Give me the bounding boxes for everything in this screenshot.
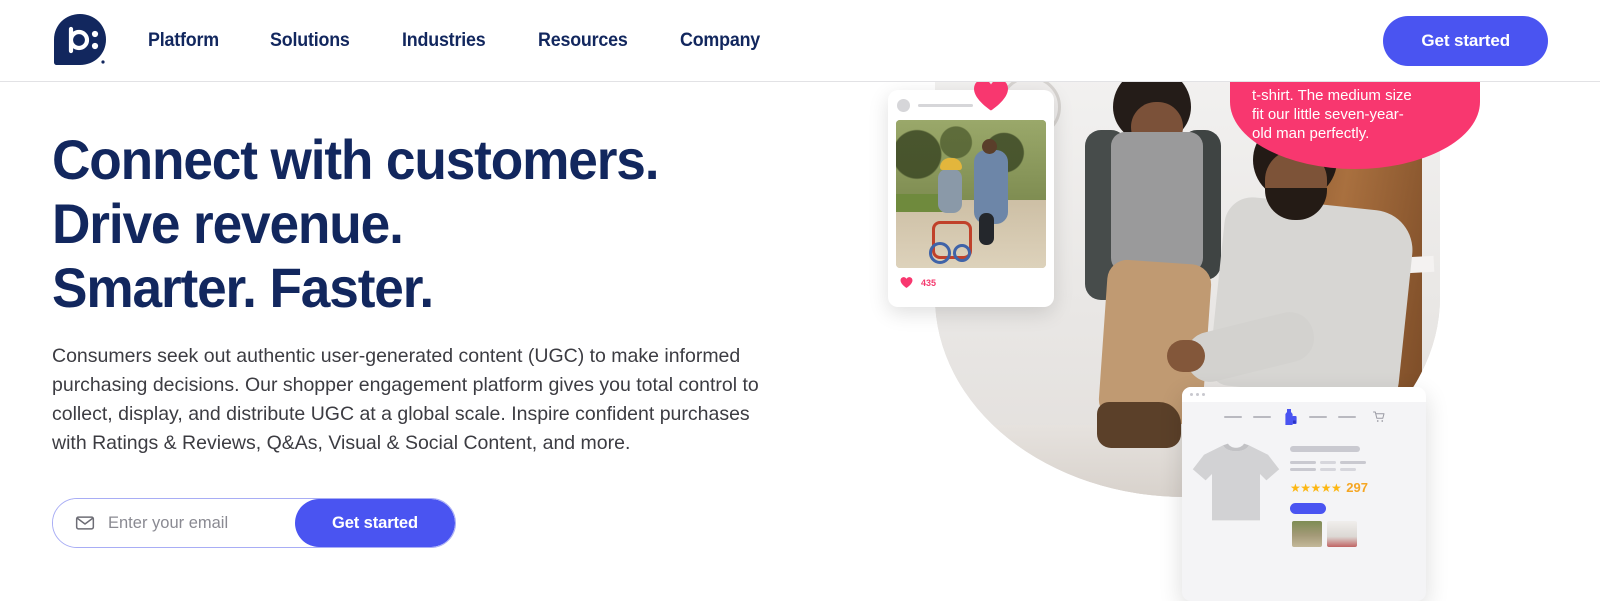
heart-like-icon[interactable]	[900, 276, 913, 289]
photo-boy-shirt	[1111, 132, 1203, 272]
headline-line-3: Smarter. Faster.	[52, 256, 774, 320]
product-detail-body: ★★★★★ 297	[1182, 432, 1426, 547]
photo-child-body	[938, 169, 962, 213]
site-header: Platform Solutions Industries Resources …	[0, 0, 1600, 82]
photo-dad-hand	[1167, 340, 1205, 372]
hero-get-started-button[interactable]: Get started	[295, 499, 455, 547]
review-count-label: 297	[1346, 480, 1368, 495]
ugc-thumbnail-row	[1290, 514, 1416, 547]
email-input[interactable]	[108, 514, 295, 533]
logo-icon	[53, 13, 107, 69]
bottle-logo-icon	[1282, 408, 1298, 426]
window-dot-maximize	[1202, 393, 1205, 396]
nav-placeholder-4[interactable]	[1338, 416, 1356, 419]
product-specs-placeholder	[1290, 461, 1416, 471]
product-rating: ★★★★★ 297	[1290, 480, 1416, 495]
review-text-line-1: t-shirt. The medium size	[1252, 86, 1460, 105]
window-dot-minimize	[1196, 393, 1199, 396]
photo-trees	[896, 120, 1046, 206]
spec-bar	[1320, 468, 1336, 471]
star-rating-icon: ★★★★★	[1290, 481, 1341, 495]
review-text-line-2: fit our little seven-year-	[1252, 105, 1460, 124]
email-field-wrap	[53, 499, 295, 547]
window-dot-close	[1190, 393, 1193, 396]
product-page-card[interactable]: ★★★★★ 297	[1182, 387, 1426, 601]
review-text-line-3: old man perfectly.	[1252, 124, 1460, 143]
nav-item-industries[interactable]: Industries	[402, 30, 485, 52]
post-card-footer: 435	[888, 268, 1054, 289]
nav-item-resources[interactable]: Resources	[538, 30, 628, 52]
page-title: Connect with customers. Drive revenue. S…	[52, 128, 774, 320]
spec-bar	[1340, 468, 1356, 471]
spec-row	[1290, 461, 1416, 464]
nav-item-solutions[interactable]: Solutions	[270, 30, 350, 52]
spec-row	[1290, 468, 1416, 471]
page-root: Platform Solutions Industries Resources …	[0, 0, 1600, 601]
post-card-photo	[896, 120, 1046, 268]
photo-child-helmet	[940, 158, 962, 170]
social-post-card[interactable]: 435	[888, 90, 1054, 307]
photo-bicycle-wheel-front	[953, 244, 971, 262]
add-to-cart-button[interactable]	[1290, 503, 1326, 514]
avatar	[897, 99, 910, 112]
nav-item-platform[interactable]: Platform	[148, 30, 219, 52]
spec-bar	[1320, 461, 1336, 464]
hero-subcopy: Consumers seek out authentic user-genera…	[52, 342, 762, 458]
ugc-thumbnail-2[interactable]	[1327, 521, 1357, 547]
browser-chrome-bar	[1182, 387, 1426, 402]
product-title-placeholder	[1290, 446, 1360, 452]
post-card-header	[888, 90, 1054, 120]
spec-bar	[1340, 461, 1366, 464]
bazaarvoice-logo[interactable]	[52, 13, 108, 69]
headline-line-1: Connect with customers.	[52, 128, 774, 192]
shopping-cart-icon[interactable]	[1373, 411, 1385, 423]
main-navigation: Platform Solutions Industries Resources …	[148, 30, 813, 52]
heart-icon	[972, 82, 1010, 112]
headline-line-2: Drive revenue.	[52, 192, 774, 256]
photo-bicycle-wheel-rear	[929, 242, 951, 264]
nav-placeholder-1[interactable]	[1224, 416, 1242, 419]
nav-item-company[interactable]: Company	[680, 30, 760, 52]
hero-content: Connect with customers. Drive revenue. S…	[52, 82, 812, 548]
product-site-nav	[1182, 402, 1426, 432]
product-info-column: ★★★★★ 297	[1284, 436, 1416, 547]
email-signup-form: Get started	[52, 498, 456, 548]
ugc-thumbnail-1[interactable]	[1292, 521, 1322, 547]
photo-boy-shoe	[1097, 402, 1181, 448]
hero-collage: 435 t-shirt. The medium size fit our lit…	[860, 82, 1600, 601]
spec-bar	[1290, 461, 1316, 464]
nav-placeholder-3[interactable]	[1309, 416, 1327, 419]
envelope-icon	[75, 513, 95, 533]
username-placeholder	[918, 104, 973, 107]
photo-parent-body	[974, 150, 1008, 224]
spec-bar	[1290, 468, 1316, 471]
nav-placeholder-2[interactable]	[1253, 416, 1271, 419]
photo-parent-legs	[979, 213, 994, 245]
photo-parent-head	[982, 139, 997, 154]
tshirt-product-image	[1188, 436, 1284, 528]
post-like-count: 435	[921, 278, 936, 288]
header-get-started-button[interactable]: Get started	[1383, 16, 1548, 66]
